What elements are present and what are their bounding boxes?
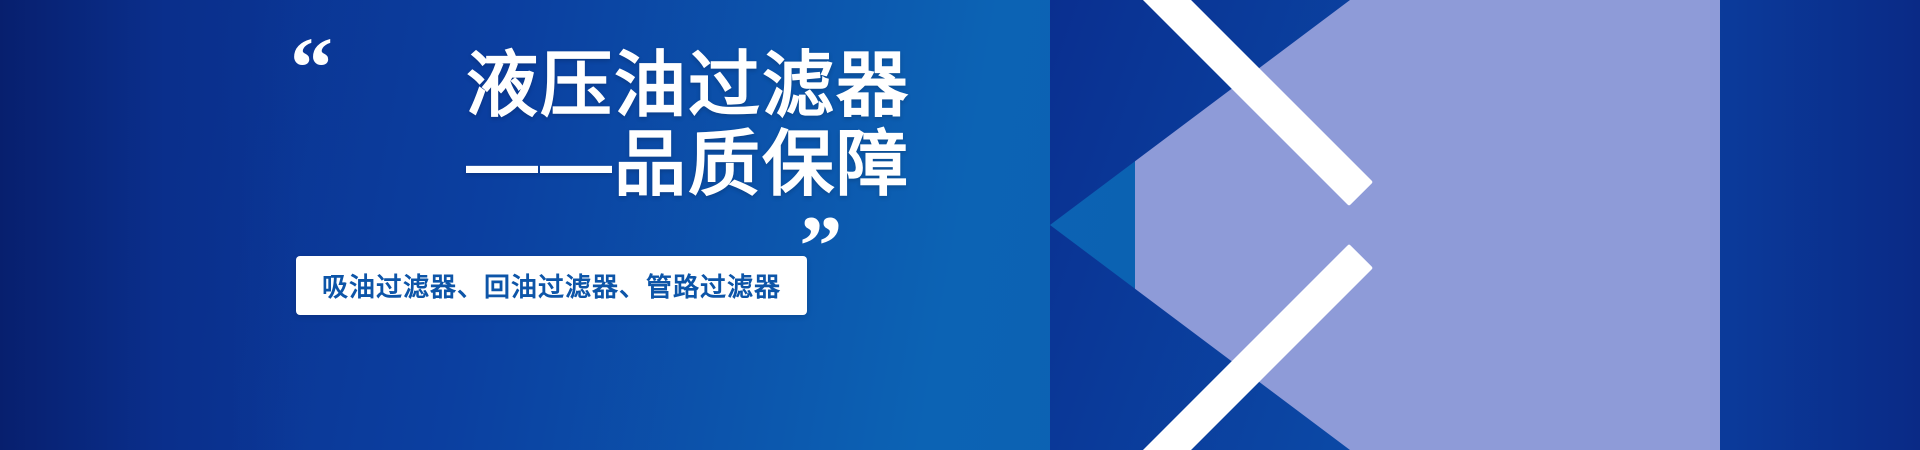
quote-close-icon: „ bbox=[800, 158, 843, 244]
background-left-gradient bbox=[0, 0, 300, 450]
subtitle-text: 吸油过滤器、回油过滤器、管路过滤器 bbox=[322, 272, 781, 302]
chevron-upper-arm bbox=[1137, 0, 1373, 206]
chevron-left-icon bbox=[1090, 0, 1340, 450]
subtitle-badge: 吸油过滤器、回油过滤器、管路过滤器 bbox=[296, 256, 807, 315]
headline-line-1: 液压油过滤器 bbox=[340, 50, 910, 123]
chevron-lower-arm bbox=[1137, 244, 1373, 450]
quote-open-icon: “ bbox=[290, 24, 333, 110]
promo-banner: “ 液压油过滤器 ——品质保障 „ 吸油过滤器、回油过滤器、管路过滤器 bbox=[0, 0, 1920, 450]
banner-text-block: “ 液压油过滤器 ——品质保障 „ 吸油过滤器、回油过滤器、管路过滤器 bbox=[290, 28, 910, 358]
